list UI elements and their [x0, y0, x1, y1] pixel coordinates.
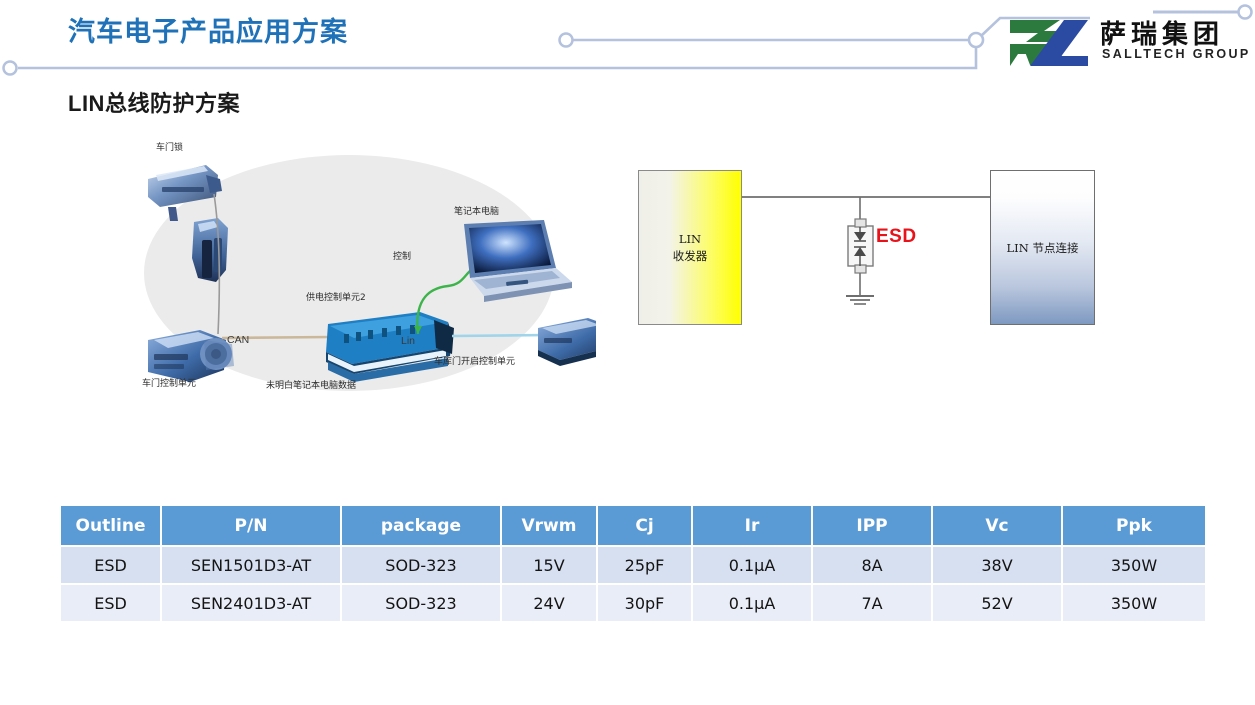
cell-vc: 38V: [932, 546, 1062, 584]
logo-name-cn: 萨瑞集团: [1100, 14, 1224, 51]
cell-ppk: 350W: [1062, 546, 1205, 584]
table-row[interactable]: ESD SEN1501D3-AT SOD-323 15V 25pF 0.1μA …: [61, 546, 1205, 584]
illus-label-lin: Lin: [401, 335, 415, 347]
spec-table-header-row: Outline P/N package Vrwm Cj Ir IPP Vc Pp…: [61, 506, 1205, 546]
cell-outline: ESD: [61, 546, 161, 584]
cell-package: SOD-323: [341, 546, 501, 584]
illus-label-laptop: 笔记本电脑: [454, 204, 499, 217]
cell-ipp: 8A: [812, 546, 932, 584]
cell-package: SOD-323: [341, 584, 501, 622]
esd-spec-table: Outline P/N package Vrwm Cj Ir IPP Vc Pp…: [61, 506, 1205, 623]
illus-label-door-lock: 车门锁: [156, 140, 183, 153]
spec-table-body: ESD SEN1501D3-AT SOD-323 15V 25pF 0.1μA …: [61, 546, 1205, 622]
cell-outline: ESD: [61, 584, 161, 622]
cell-vrwm: 24V: [501, 584, 597, 622]
spec-table-head: Outline P/N package Vrwm Cj Ir IPP Vc Pp…: [61, 506, 1205, 546]
col-header-package[interactable]: package: [341, 506, 501, 546]
illus-label-can: CAN: [227, 334, 249, 346]
col-header-ppk[interactable]: Ppk: [1062, 506, 1205, 546]
cell-ppk: 350W: [1062, 584, 1205, 622]
laptop-device: [464, 220, 572, 302]
col-header-ipp[interactable]: IPP: [812, 506, 932, 546]
illus-label-door-control-unit: 车门控制单元: [142, 376, 196, 389]
cell-vrwm: 15V: [501, 546, 597, 584]
lin-network-graphic: [96, 138, 596, 403]
cell-cj: 25pF: [597, 546, 692, 584]
cell-ir: 0.1μA: [692, 584, 812, 622]
cell-vc: 52V: [932, 584, 1062, 622]
company-logo: 萨瑞集团 SALLTECH GROUP: [1008, 14, 1248, 76]
cell-ir: 0.1μA: [692, 546, 812, 584]
esd-label: ESD: [876, 226, 917, 248]
lin-network-illustration: 车门锁 笔记本电脑 控制 供电控制单元2 CAN Lin 车门控制单元 未明白笔…: [96, 138, 596, 403]
logo-name-en: SALLTECH GROUP: [1102, 47, 1251, 61]
slide-canvas: 汽车电子产品应用方案 LIN总线防护方案 萨瑞集团 SALLTECH GROUP: [0, 0, 1255, 705]
illus-label-garage-door-unit: 车库门开启控制单元: [434, 354, 515, 367]
page-title: 汽车电子产品应用方案: [68, 10, 348, 49]
col-header-outline[interactable]: Outline: [61, 506, 161, 546]
section-title: LIN总线防护方案: [68, 86, 240, 118]
illus-label-control: 控制: [393, 249, 411, 262]
cell-pn: SEN2401D3-AT: [161, 584, 341, 622]
lin-esd-circuit-diagram: LIN 收发器 LIN 节点连接: [620, 150, 1130, 355]
col-header-vc[interactable]: Vc: [932, 506, 1062, 546]
col-header-ir[interactable]: Ir: [692, 506, 812, 546]
circuit-wiring: [620, 150, 1130, 355]
salltech-logo-mark: [1008, 18, 1090, 68]
illus-label-laptop-data: 未明白笔记本电脑数据: [266, 378, 356, 391]
cell-pn: SEN1501D3-AT: [161, 546, 341, 584]
col-header-pn[interactable]: P/N: [161, 506, 341, 546]
cell-ipp: 7A: [812, 584, 932, 622]
illus-label-supply-control-unit-2: 供电控制单元2: [306, 290, 366, 303]
lock-actuator-device: [192, 218, 228, 282]
table-row[interactable]: ESD SEN2401D3-AT SOD-323 24V 30pF 0.1μA …: [61, 584, 1205, 622]
col-header-cj[interactable]: Cj: [597, 506, 692, 546]
cell-cj: 30pF: [597, 584, 692, 622]
garage-door-control-unit-device: [538, 318, 596, 366]
col-header-vrwm[interactable]: Vrwm: [501, 506, 597, 546]
